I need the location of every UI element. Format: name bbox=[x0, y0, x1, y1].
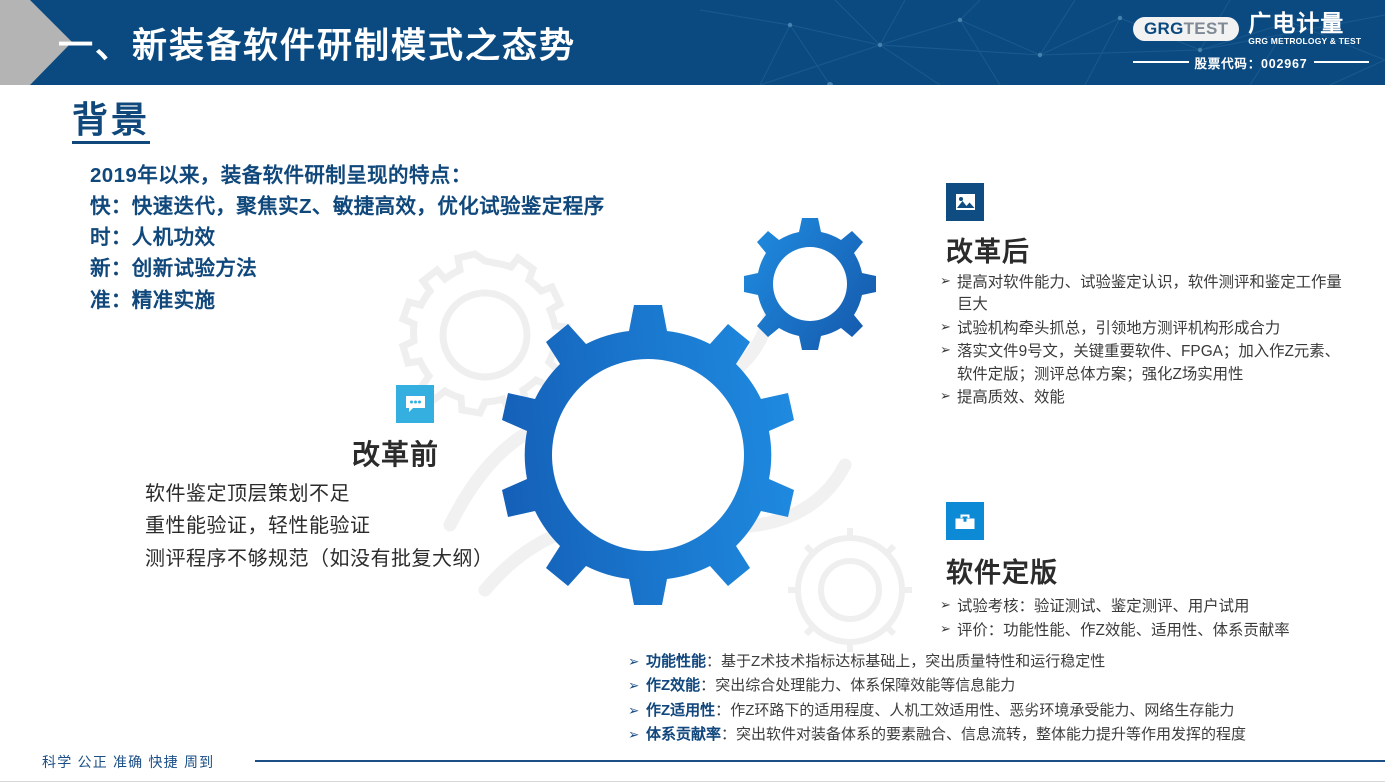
stock-rule-right bbox=[1314, 61, 1370, 63]
metric-text: 突出软件对装备体系的要素融合、信息流转，整体能力提升等作用发挥的程度 bbox=[736, 726, 1246, 743]
metric-item: 作Z效能：突出综合处理能力、体系保障效能等信息能力 bbox=[628, 674, 1368, 698]
list-item: 提高对软件能力、试验鉴定认识，软件测评和鉴定工作量巨大 bbox=[940, 272, 1352, 317]
after-heading: 改革后 bbox=[946, 230, 1030, 269]
list-item: 评价：功能性能、作Z效能、适用性、体系贡献率 bbox=[940, 619, 1360, 642]
image-picture-icon bbox=[946, 183, 984, 221]
footer-slogan: 科学 公正 准确 快捷 周到 bbox=[42, 752, 214, 772]
intro-line: 准：精准实施 bbox=[90, 285, 605, 316]
intro-line: 时：人机功效 bbox=[90, 222, 605, 253]
speech-bubble-glyph bbox=[405, 395, 426, 414]
toolbox-icon bbox=[946, 502, 984, 540]
list-item: 落实文件9号文，关键重要软件、FPGA；加入作Z元素、软件定版；测评总体方案；强… bbox=[940, 341, 1352, 386]
brand-name-cn: 广电计量 bbox=[1248, 12, 1361, 35]
metric-item: 功能性能：基于Z术技术指标达标基础上，突出质量特性和运行稳定性 bbox=[628, 650, 1368, 674]
footer-rule bbox=[255, 760, 1385, 762]
metric-term: 体系贡献率 bbox=[646, 726, 721, 743]
slide-root: 一、新装备软件研制模式之态势 GRGTEST 广电计量 GRG METROLOG… bbox=[0, 0, 1385, 784]
intro-line: 快：快速迭代，聚焦实Z、敏捷高效，优化试验鉴定程序 bbox=[90, 191, 605, 222]
gear-small bbox=[744, 218, 876, 350]
metric-sep: ： bbox=[721, 726, 736, 743]
stock-code-label: 股票代码：002967 bbox=[1195, 53, 1308, 72]
metric-term: 作Z适用性 bbox=[646, 702, 715, 719]
metric-term: 功能性能 bbox=[646, 653, 706, 670]
footer-bottom-divider bbox=[0, 781, 1385, 782]
metric-sep: ： bbox=[715, 702, 730, 719]
software-final-heading: 软件定版 bbox=[946, 551, 1058, 590]
before-list: 软件鉴定顶层策划不足 重性能验证，轻性能验证 测评程序不够规范（如没有批复大纲） bbox=[145, 478, 494, 575]
grgtest-wordmark: GRGTEST bbox=[1133, 17, 1239, 41]
toolbox-glyph bbox=[954, 512, 976, 531]
metric-item: 作Z适用性：作Z环路下的适用程度、人机工效适用性、恶劣环境承受能力、网络生存能力 bbox=[628, 699, 1368, 723]
intro-line: 新：创新试验方法 bbox=[90, 253, 605, 284]
section-title: 背景 bbox=[72, 100, 150, 144]
metric-sep: ： bbox=[700, 677, 715, 694]
stock-rule-left bbox=[1133, 61, 1189, 63]
gear-large bbox=[502, 305, 794, 605]
image-picture-glyph bbox=[955, 193, 976, 211]
brand-logo: GRGTEST 广电计量 GRG METROLOGY & TEST 股票代码：0… bbox=[1133, 12, 1369, 74]
grgtest-test: TEST bbox=[1184, 19, 1229, 38]
metric-text: 基于Z术技术指标达标基础上，突出质量特性和运行稳定性 bbox=[721, 653, 1105, 670]
brand-name-en: GRG METROLOGY & TEST bbox=[1248, 37, 1361, 46]
before-heading: 改革前 bbox=[352, 433, 439, 473]
stock-code: 股票代码：002967 bbox=[1133, 53, 1369, 72]
slide-header: 一、新装备软件研制模式之态势 GRGTEST 广电计量 GRG METROLOG… bbox=[0, 0, 1385, 85]
metric-sep: ： bbox=[706, 653, 721, 670]
list-item: 试验考核：验证测试、鉴定测评、用户试用 bbox=[940, 595, 1360, 618]
list-item: 试验机构牵头抓总，引领地方测评机构形成合力 bbox=[940, 318, 1352, 340]
before-line: 测评程序不够规范（如没有批复大纲） bbox=[145, 543, 494, 575]
page-title: 一、新装备软件研制模式之态势 bbox=[58, 17, 576, 68]
speech-bubble-icon bbox=[396, 385, 434, 423]
before-line: 重性能验证，轻性能验证 bbox=[145, 510, 494, 542]
intro-line: 2019年以来，装备软件研制呈现的特点： bbox=[90, 160, 605, 191]
metric-term: 作Z效能 bbox=[646, 677, 700, 694]
metrics-list: 功能性能：基于Z术技术指标达标基础上，突出质量特性和运行稳定性 作Z效能：突出综… bbox=[628, 650, 1368, 747]
metric-text: 作Z环路下的适用程度、人机工效适用性、恶劣环境承受能力、网络生存能力 bbox=[730, 702, 1234, 719]
grgtest-grg: GRG bbox=[1144, 19, 1184, 38]
software-final-list: 试验考核：验证测试、鉴定测评、用户试用 评价：功能性能、作Z效能、适用性、体系贡… bbox=[940, 595, 1360, 643]
metric-text: 突出综合处理能力、体系保障效能等信息能力 bbox=[715, 677, 1015, 694]
list-item: 提高质效、效能 bbox=[940, 387, 1352, 409]
metric-item: 体系贡献率：突出软件对装备体系的要素融合、信息流转，整体能力提升等作用发挥的程度 bbox=[628, 723, 1368, 747]
before-line: 软件鉴定顶层策划不足 bbox=[145, 478, 494, 510]
after-list: 提高对软件能力、试验鉴定认识，软件测评和鉴定工作量巨大 试验机构牵头抓总，引领地… bbox=[940, 272, 1352, 411]
intro-block: 2019年以来，装备软件研制呈现的特点： 快：快速迭代，聚焦实Z、敏捷高效，优化… bbox=[90, 160, 605, 316]
